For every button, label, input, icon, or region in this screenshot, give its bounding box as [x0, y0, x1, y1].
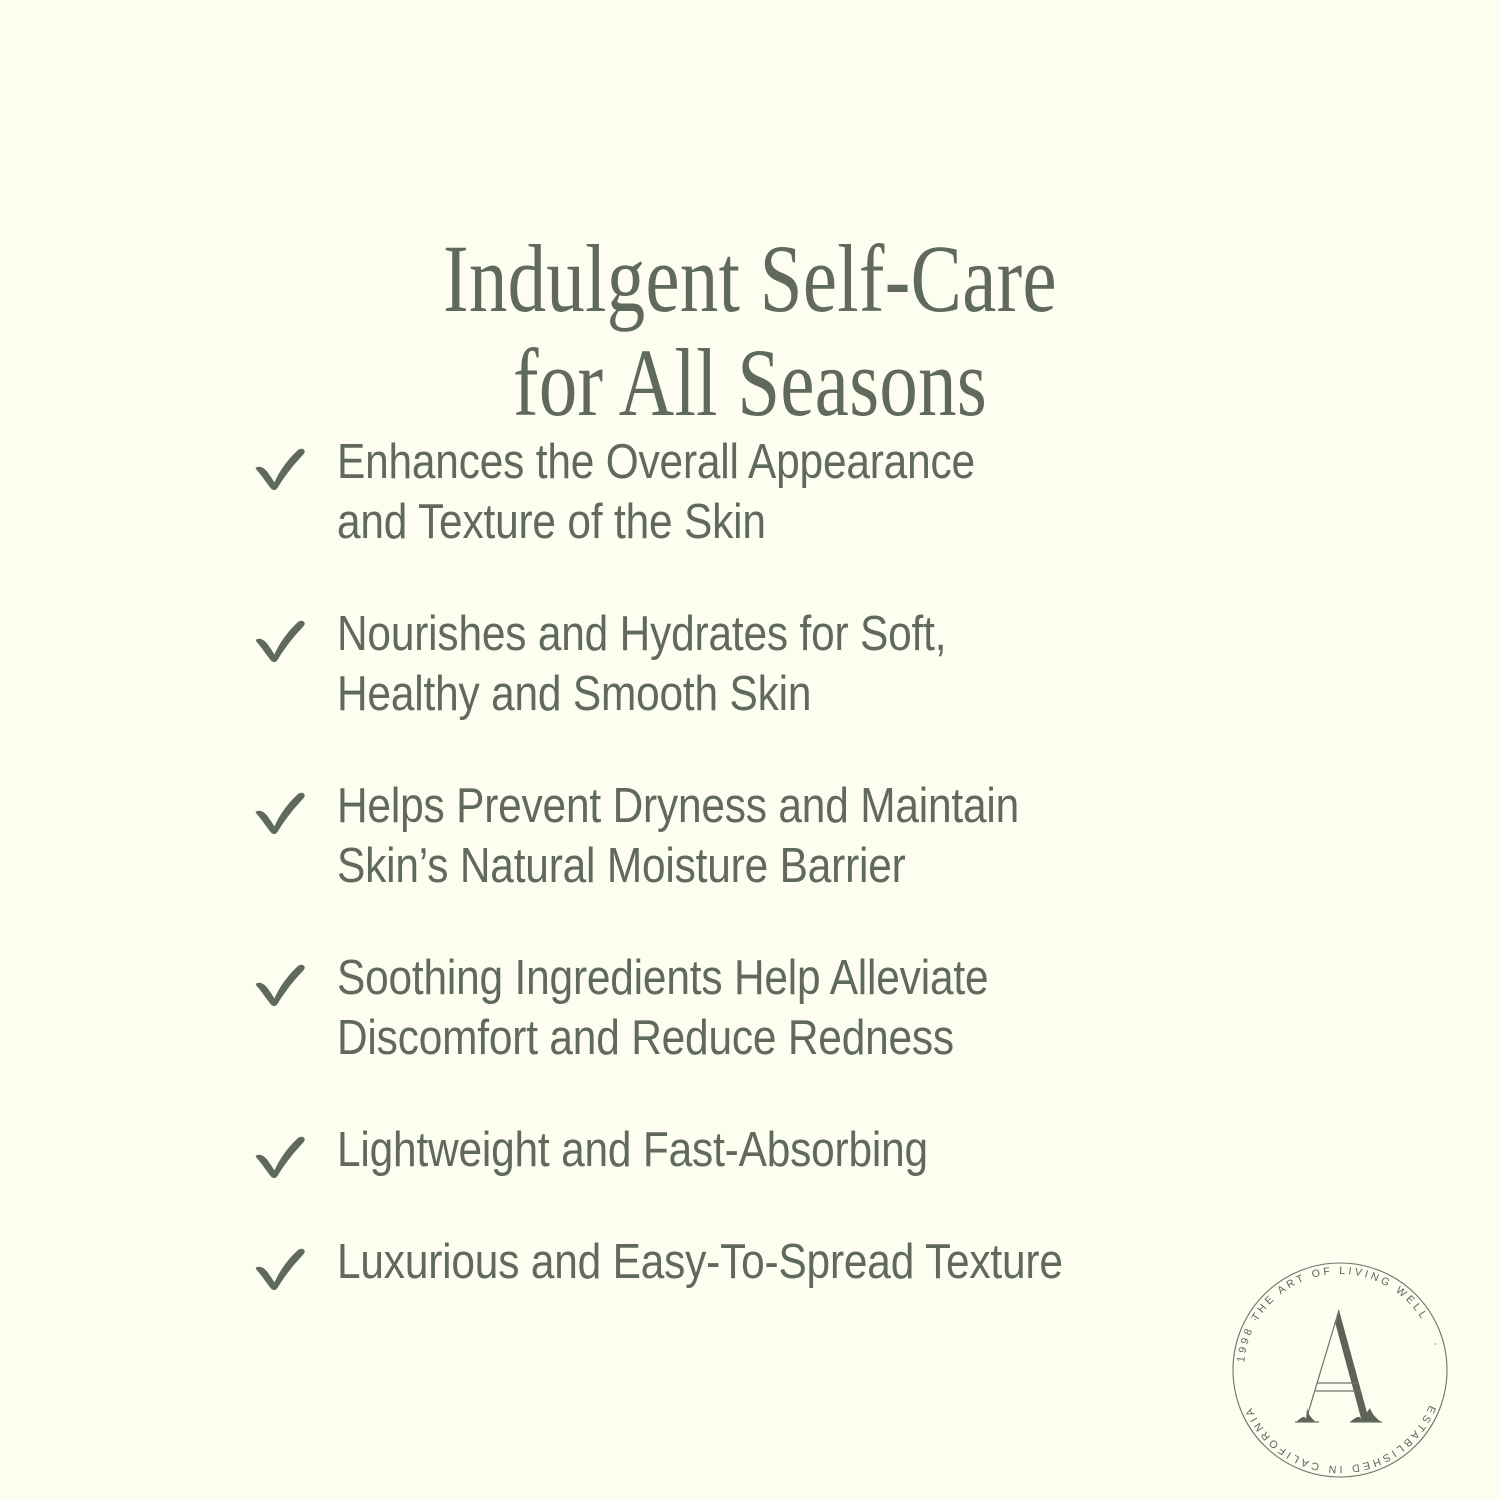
list-item-label: Luxurious and Easy-To-Spread Texture	[337, 1232, 1111, 1292]
page-title: Indulgent Self-Care for All Seasons	[150, 227, 1350, 435]
checkmark-icon	[252, 1240, 308, 1292]
page-title-line-2: for All Seasons	[150, 331, 1350, 435]
seal-bottom-arc-text: ESTABLISHED IN CALIFORNIA	[1242, 1404, 1438, 1475]
list-item: Lightweight and Fast-Absorbing	[252, 1120, 1232, 1180]
list-item: Helps Prevent Dryness and Maintain Skin’…	[252, 776, 1232, 896]
list-item: Luxurious and Easy-To-Spread Texture	[252, 1232, 1232, 1292]
brand-seal-logo: THE ART OF LIVING WELL ESTABLISHED IN CA…	[1222, 1252, 1458, 1488]
benefits-list: Enhances the Overall Appearance and Text…	[252, 432, 1232, 1292]
list-item: Enhances the Overall Appearance and Text…	[252, 432, 1232, 552]
checkmark-icon	[252, 612, 308, 664]
list-item-label: Enhances the Overall Appearance and Text…	[337, 432, 1111, 552]
checkmark-icon	[252, 784, 308, 836]
page-title-line-1: Indulgent Self-Care	[150, 227, 1350, 331]
seal-ring-outer	[1233, 1263, 1447, 1477]
list-item-label: Soothing Ingredients Help Alleviate Disc…	[337, 948, 1111, 1068]
list-item-label: Helps Prevent Dryness and Maintain Skin’…	[337, 776, 1111, 896]
list-item: Nourishes and Hydrates for Soft, Healthy…	[252, 604, 1232, 724]
list-item-label: Nourishes and Hydrates for Soft, Healthy…	[337, 604, 1111, 724]
list-item: Soothing Ingredients Help Alleviate Disc…	[252, 948, 1232, 1068]
seal-monogram-a	[1295, 1310, 1382, 1422]
seal-separator-text: ·	[1429, 1341, 1442, 1350]
list-item-label: Lightweight and Fast-Absorbing	[337, 1120, 1111, 1180]
checkmark-icon	[252, 440, 308, 492]
checkmark-icon	[252, 1128, 308, 1180]
checkmark-icon	[252, 956, 308, 1008]
poster-canvas: Indulgent Self-Care for All Seasons Enha…	[0, 0, 1500, 1500]
